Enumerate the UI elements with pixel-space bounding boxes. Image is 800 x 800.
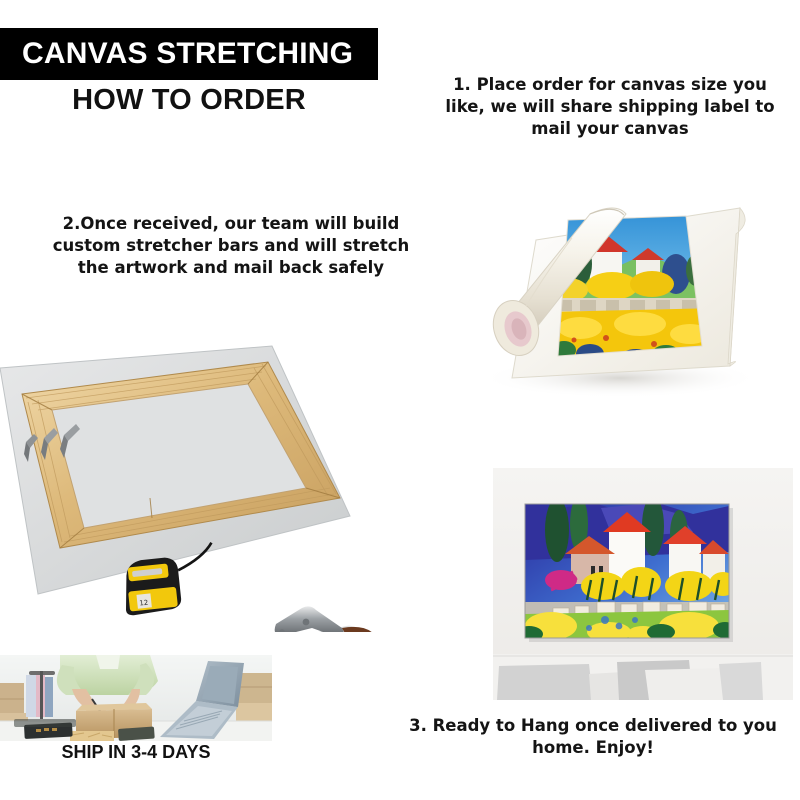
step-3-instruction: 3. Ready to Hang once delivered to you h… <box>386 715 800 759</box>
svg-text:12: 12 <box>139 599 149 608</box>
page-subtitle: HOW TO ORDER <box>0 84 378 117</box>
page-title: CANVAS STRETCHING <box>0 37 353 71</box>
title-bar: CANVAS STRETCHING <box>0 28 378 80</box>
infographic-canvas: CANVAS STRETCHING HOW TO ORDER 1. Place … <box>0 0 800 800</box>
stretcher-frame-tools-photo: 12 <box>0 302 440 632</box>
hung-canvas-room-photo <box>493 468 793 700</box>
packing-shipping-photo <box>0 655 272 741</box>
rolled-canvas-print-photo <box>440 178 790 428</box>
ship-days-label: SHIP IN 3-4 DAYS <box>0 742 272 763</box>
step-2-instruction: 2.Once received, our team will build cus… <box>38 213 424 279</box>
step-1-instruction: 1. Place order for canvas size you like,… <box>432 74 788 140</box>
